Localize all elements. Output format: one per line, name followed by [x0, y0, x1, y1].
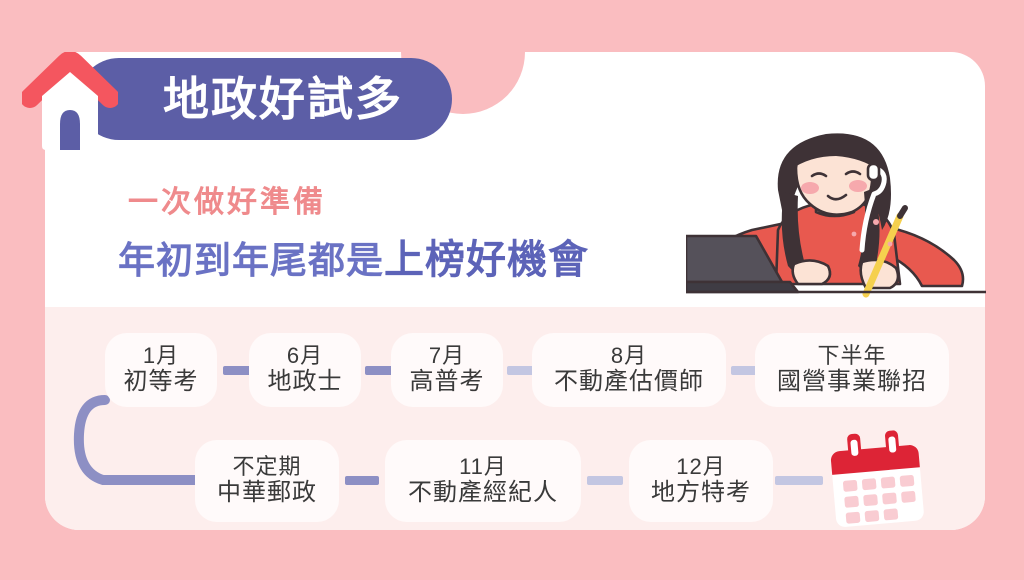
chip-exam: 國營事業聯招 — [777, 368, 927, 397]
timeline-chip-row1-1[interactable]: 6月 地政士 — [249, 333, 361, 407]
chip-month: 12月 — [676, 454, 725, 479]
chip-exam: 不動產估價師 — [554, 368, 704, 397]
chip-month: 不定期 — [232, 454, 301, 479]
chip-exam: 高普考 — [410, 368, 485, 397]
calendar-icon — [823, 430, 931, 534]
timeline-chip-row1-3[interactable]: 8月 不動產估價師 — [532, 333, 726, 407]
chip-month: 下半年 — [817, 343, 886, 368]
timeline-chip-row2-2[interactable]: 12月 地方特考 — [629, 440, 773, 522]
infographic-stage: 地政好試多 一次做好準備 年初到年尾都是上榜好機會 — [0, 0, 1024, 580]
badge-title-text: 地政好試多 — [127, 76, 403, 122]
chip-month: 7月 — [429, 343, 465, 368]
chip-exam: 不動產經紀人 — [408, 479, 558, 508]
chip-month: 1月 — [143, 343, 179, 368]
timeline-chip-row2-1[interactable]: 11月 不動產經紀人 — [385, 440, 581, 522]
timeline-chip-row1-0[interactable]: 1月 初等考 — [105, 333, 217, 407]
chip-exam: 地方特考 — [651, 479, 751, 508]
chip-exam: 地政士 — [268, 368, 343, 397]
chip-exam: 中華郵政 — [217, 479, 317, 508]
timeline-chip-row2-0[interactable]: 不定期 中華郵政 — [195, 440, 339, 522]
chip-month: 11月 — [459, 454, 507, 479]
chip-month: 8月 — [611, 343, 647, 368]
house-icon — [22, 52, 118, 152]
connector-row2-0-1 — [345, 476, 379, 485]
timeline-chip-row1-4[interactable]: 下半年 國營事業聯招 — [755, 333, 949, 407]
chip-month: 6月 — [287, 343, 323, 368]
connector-row2-1-2 — [587, 476, 623, 485]
chip-exam: 初等考 — [124, 368, 199, 397]
timeline-chip-row1-2[interactable]: 7月 高普考 — [391, 333, 503, 407]
connector-row2-2-calendar — [775, 476, 823, 485]
title-badge: 地政好試多 — [78, 58, 452, 140]
